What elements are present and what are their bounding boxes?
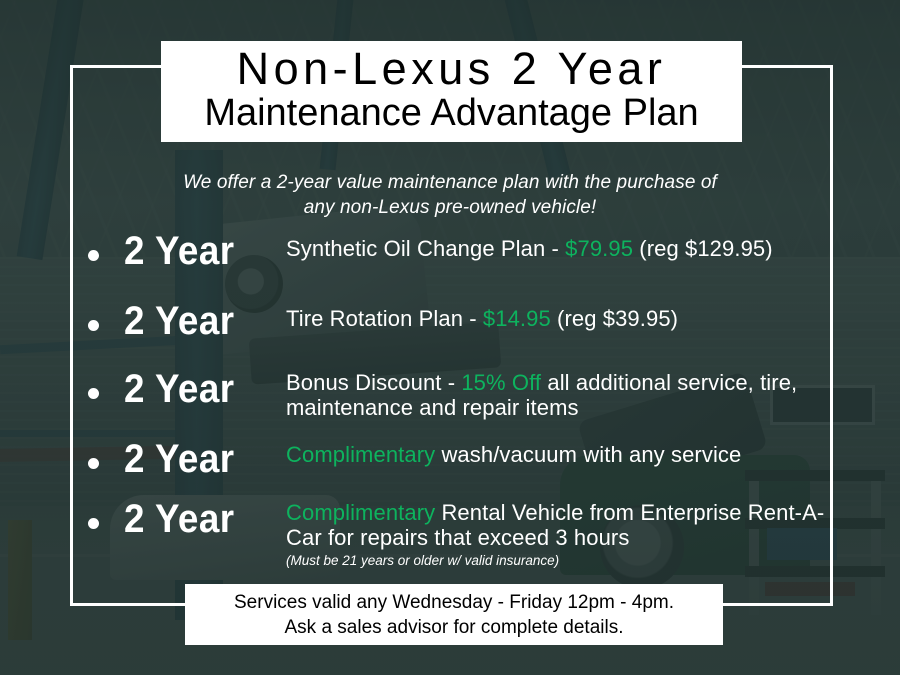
benefit-highlight: 15% Off <box>461 370 541 395</box>
benefit-description: Complimentary wash/vacuum with any servi… <box>286 438 848 467</box>
term-label: 2 Year <box>124 498 273 540</box>
benefit-text-post: (reg $39.95) <box>551 306 678 331</box>
term-label: 2 Year <box>124 438 273 480</box>
subtitle-line-1: We offer a 2-year value maintenance plan… <box>0 170 900 195</box>
terms-footer: Services valid any Wednesday - Friday 12… <box>185 584 723 645</box>
benefit-highlight: $14.95 <box>483 306 551 331</box>
benefit-description: Synthetic Oil Change Plan - $79.95 (reg … <box>286 230 848 261</box>
bullet-dot-icon <box>88 388 99 399</box>
bullet-dot-icon <box>88 458 99 469</box>
benefit-description: Bonus Discount - 15% Off all additional … <box>286 368 848 420</box>
subtitle-line-2: any non-Lexus pre-owned vehicle! <box>0 195 900 220</box>
benefit-text-post: (reg $129.95) <box>633 236 773 261</box>
benefit-fineprint: (Must be 21 years or older w/ valid insu… <box>286 552 848 570</box>
subtitle: We offer a 2-year value maintenance plan… <box>0 170 900 220</box>
page-title-line-1: Non-Lexus 2 Year <box>237 46 667 92</box>
bullet-dot-icon <box>88 518 99 529</box>
benefit-description: Tire Rotation Plan - $14.95 (reg $39.95) <box>286 300 848 331</box>
list-item: 2 Year Bonus Discount - 15% Off all addi… <box>88 368 848 438</box>
benefit-description: Complimentary Rental Vehicle from Enterp… <box>286 498 848 570</box>
list-item: 2 Year Complimentary wash/vacuum with an… <box>88 438 848 498</box>
benefit-highlight: Complimentary <box>286 500 435 525</box>
term-label: 2 Year <box>124 300 273 342</box>
list-item: 2 Year Synthetic Oil Change Plan - $79.9… <box>88 230 848 300</box>
page-title-line-2: Maintenance Advantage Plan <box>204 93 698 133</box>
benefit-text-pre: Tire Rotation Plan - <box>286 306 483 331</box>
benefit-highlight: $79.95 <box>565 236 633 261</box>
bullet-dot-icon <box>88 250 99 261</box>
benefit-text-pre: Bonus Discount - <box>286 370 461 395</box>
footer-line-1: Services valid any Wednesday - Friday 12… <box>234 590 674 615</box>
benefit-highlight: Complimentary <box>286 442 435 467</box>
bullet-dot-icon <box>88 320 99 331</box>
term-label: 2 Year <box>124 230 273 272</box>
footer-line-2: Ask a sales advisor for complete details… <box>285 615 624 640</box>
list-item: 2 Year Tire Rotation Plan - $14.95 (reg … <box>88 300 848 368</box>
term-label: 2 Year <box>124 368 273 410</box>
benefits-list: 2 Year Synthetic Oil Change Plan - $79.9… <box>88 230 848 574</box>
title-banner: Non-Lexus 2 Year Maintenance Advantage P… <box>161 41 742 142</box>
promotional-flyer: Non-Lexus 2 Year Maintenance Advantage P… <box>0 0 900 675</box>
benefit-text-pre: Synthetic Oil Change Plan - <box>286 236 565 261</box>
benefit-text-post: wash/vacuum with any service <box>435 442 741 467</box>
list-item: 2 Year Complimentary Rental Vehicle from… <box>88 498 848 574</box>
